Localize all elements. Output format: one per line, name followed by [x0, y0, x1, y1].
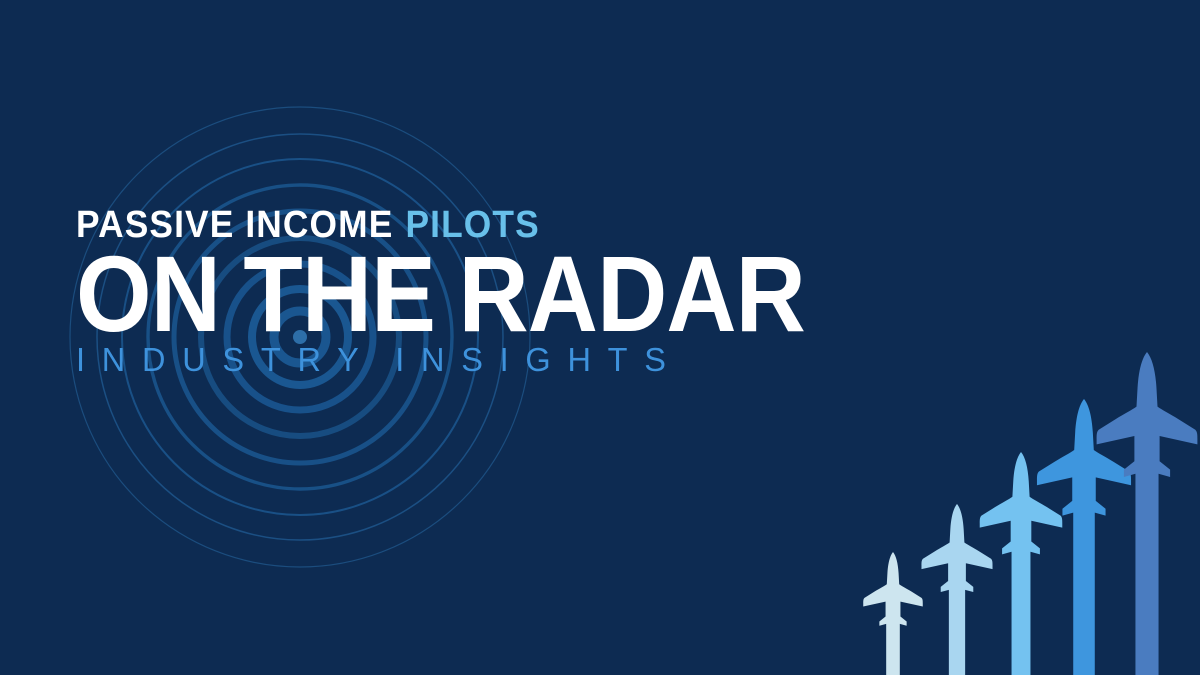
subtitle-word-industry: INDUSTRY — [76, 341, 376, 378]
airplane-bar — [921, 504, 992, 675]
headline-word-the: THE — [243, 233, 435, 354]
title-block: PASSIVE INCOMEPILOTS ONTHERADAR INDUSTRY… — [76, 206, 996, 376]
slide-canvas: PASSIVE INCOMEPILOTS ONTHERADAR INDUSTRY… — [0, 0, 1200, 675]
airplane-bar — [863, 552, 923, 675]
headline-word-on: ON — [76, 233, 220, 354]
page-title: ONTHERADAR — [76, 244, 904, 343]
subtitle-word-insights: INSIGHTS — [395, 341, 682, 378]
subtitle-line: INDUSTRYINSIGHTS — [76, 343, 982, 376]
airplane-bar — [1037, 399, 1131, 675]
airplane-bar — [1097, 352, 1198, 675]
headline-word-radar: RADAR — [459, 233, 805, 354]
